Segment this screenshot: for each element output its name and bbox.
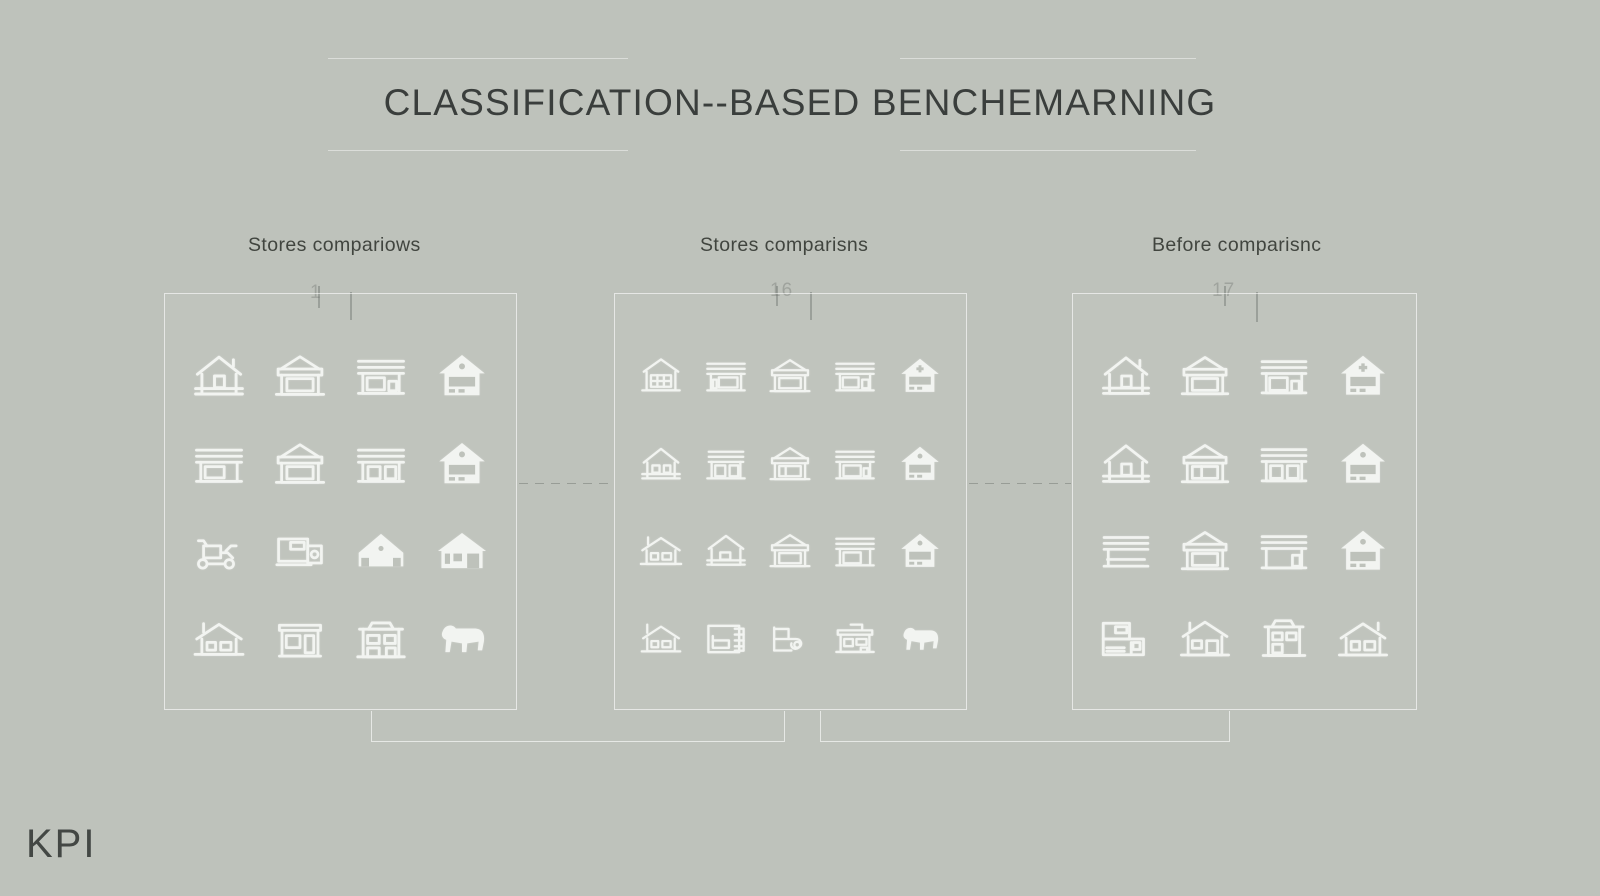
icon-pitched-roof-store-icon[interactable] xyxy=(887,332,952,420)
title-rule-top-left xyxy=(328,58,628,59)
icon-shop-window-icon[interactable] xyxy=(1245,508,1324,596)
icon-boutique-window-icon[interactable] xyxy=(694,420,759,508)
icon-package-box-icon[interactable] xyxy=(260,508,341,596)
bracket-right xyxy=(820,711,1230,742)
footer-kpi-label: KPI xyxy=(26,822,96,867)
icon-barn-icon[interactable] xyxy=(341,508,422,596)
icon-storefront-awning-icon[interactable] xyxy=(1166,508,1245,596)
panel-before-comparisnc[interactable] xyxy=(1072,293,1417,710)
panel-stores-comparisns[interactable] xyxy=(614,293,967,710)
icon-pitched-roof-shop-icon[interactable] xyxy=(887,420,952,508)
icon-shop-striped-awning-icon[interactable] xyxy=(179,420,260,508)
icon-house-with-fence-icon[interactable] xyxy=(1087,420,1166,508)
connector-panel-1-to-2 xyxy=(519,483,613,484)
panel-stores-compariows[interactable] xyxy=(164,293,517,710)
icon-grid-panel-3 xyxy=(1073,294,1416,709)
icon-house-with-fence-icon[interactable] xyxy=(629,420,694,508)
icon-two-story-shop-icon[interactable] xyxy=(1245,595,1324,683)
icon-grid-panel-1 xyxy=(165,294,516,709)
icon-shop-window-icon[interactable] xyxy=(341,332,422,420)
icon-grid-panel-2 xyxy=(615,294,966,709)
icon-pitched-roof-shop-icon[interactable] xyxy=(1323,420,1402,508)
icon-shop-display-icon[interactable] xyxy=(823,420,888,508)
icon-cow-icon[interactable] xyxy=(887,595,952,683)
icon-gabled-shop-icon[interactable] xyxy=(629,332,694,420)
title-rule-bottom-left xyxy=(328,150,628,151)
icon-chimney-house-icon[interactable] xyxy=(179,595,260,683)
icon-shop-window-icon[interactable] xyxy=(1245,332,1324,420)
icon-cottage-house-icon[interactable] xyxy=(694,508,759,596)
icon-boutique-window-icon[interactable] xyxy=(341,420,422,508)
icon-storefront-awning-icon[interactable] xyxy=(758,332,823,420)
icon-shop-striped-awning-icon[interactable] xyxy=(694,332,759,420)
icon-storefront-awning-icon[interactable] xyxy=(1166,332,1245,420)
icon-small-market-icon[interactable] xyxy=(823,595,888,683)
title-rule-top-right xyxy=(900,58,1196,59)
icon-two-story-shop-icon[interactable] xyxy=(341,595,422,683)
slide-canvas: CLASSIFICATION--BASED BENCHEMARNING Stor… xyxy=(0,0,1600,896)
icon-pitched-roof-store-icon[interactable] xyxy=(421,420,502,508)
connector-panel-2-to-3 xyxy=(969,483,1071,484)
icon-cow-icon[interactable] xyxy=(421,595,502,683)
icon-house-with-fence-icon[interactable] xyxy=(179,332,260,420)
icon-shop-window-icon[interactable] xyxy=(823,332,888,420)
icon-chimney-house-icon[interactable] xyxy=(1323,595,1402,683)
icon-pitched-roof-store-icon[interactable] xyxy=(1323,508,1402,596)
icon-shop-striped-awning-icon[interactable] xyxy=(823,508,888,596)
icon-pitched-roof-shop-icon[interactable] xyxy=(421,332,502,420)
icon-cottage-house-icon[interactable] xyxy=(1166,595,1245,683)
column-header-before-comparisnc: Before comparisnc xyxy=(1152,234,1321,257)
title-rule-bottom-right xyxy=(900,150,1196,151)
icon-house-with-fence-icon[interactable] xyxy=(1087,332,1166,420)
column-header-stores-comparisns: Stores comparisns xyxy=(700,234,868,257)
icon-storefront-gable-icon[interactable] xyxy=(260,420,341,508)
icon-shop-striped-awning-icon[interactable] xyxy=(1087,508,1166,596)
icon-cottage-house-icon[interactable] xyxy=(421,508,502,596)
icon-storefront-awning-icon[interactable] xyxy=(260,332,341,420)
icon-package-box-icon[interactable] xyxy=(1087,595,1166,683)
icon-chimney-house-icon[interactable] xyxy=(629,508,694,596)
bracket-left xyxy=(371,711,785,742)
icon-delivery-scooter-icon[interactable] xyxy=(758,595,823,683)
icon-boutique-window-icon[interactable] xyxy=(1245,420,1324,508)
icon-bed-shop-icon[interactable] xyxy=(694,595,759,683)
icon-storefront-awning-icon[interactable] xyxy=(758,508,823,596)
icon-small-market-icon[interactable] xyxy=(260,595,341,683)
icon-delivery-scooter-icon[interactable] xyxy=(179,508,260,596)
icon-chimney-house-icon[interactable] xyxy=(629,595,694,683)
column-header-stores-compariows: Stores compariows xyxy=(248,234,421,257)
icon-pitched-roof-store-icon[interactable] xyxy=(887,508,952,596)
icon-storefront-gable-icon[interactable] xyxy=(1166,420,1245,508)
icon-storefront-gable-icon[interactable] xyxy=(758,420,823,508)
icon-pitched-roof-store-icon[interactable] xyxy=(1323,332,1402,420)
page-title: CLASSIFICATION--BASED BENCHEMARNING xyxy=(0,82,1600,124)
